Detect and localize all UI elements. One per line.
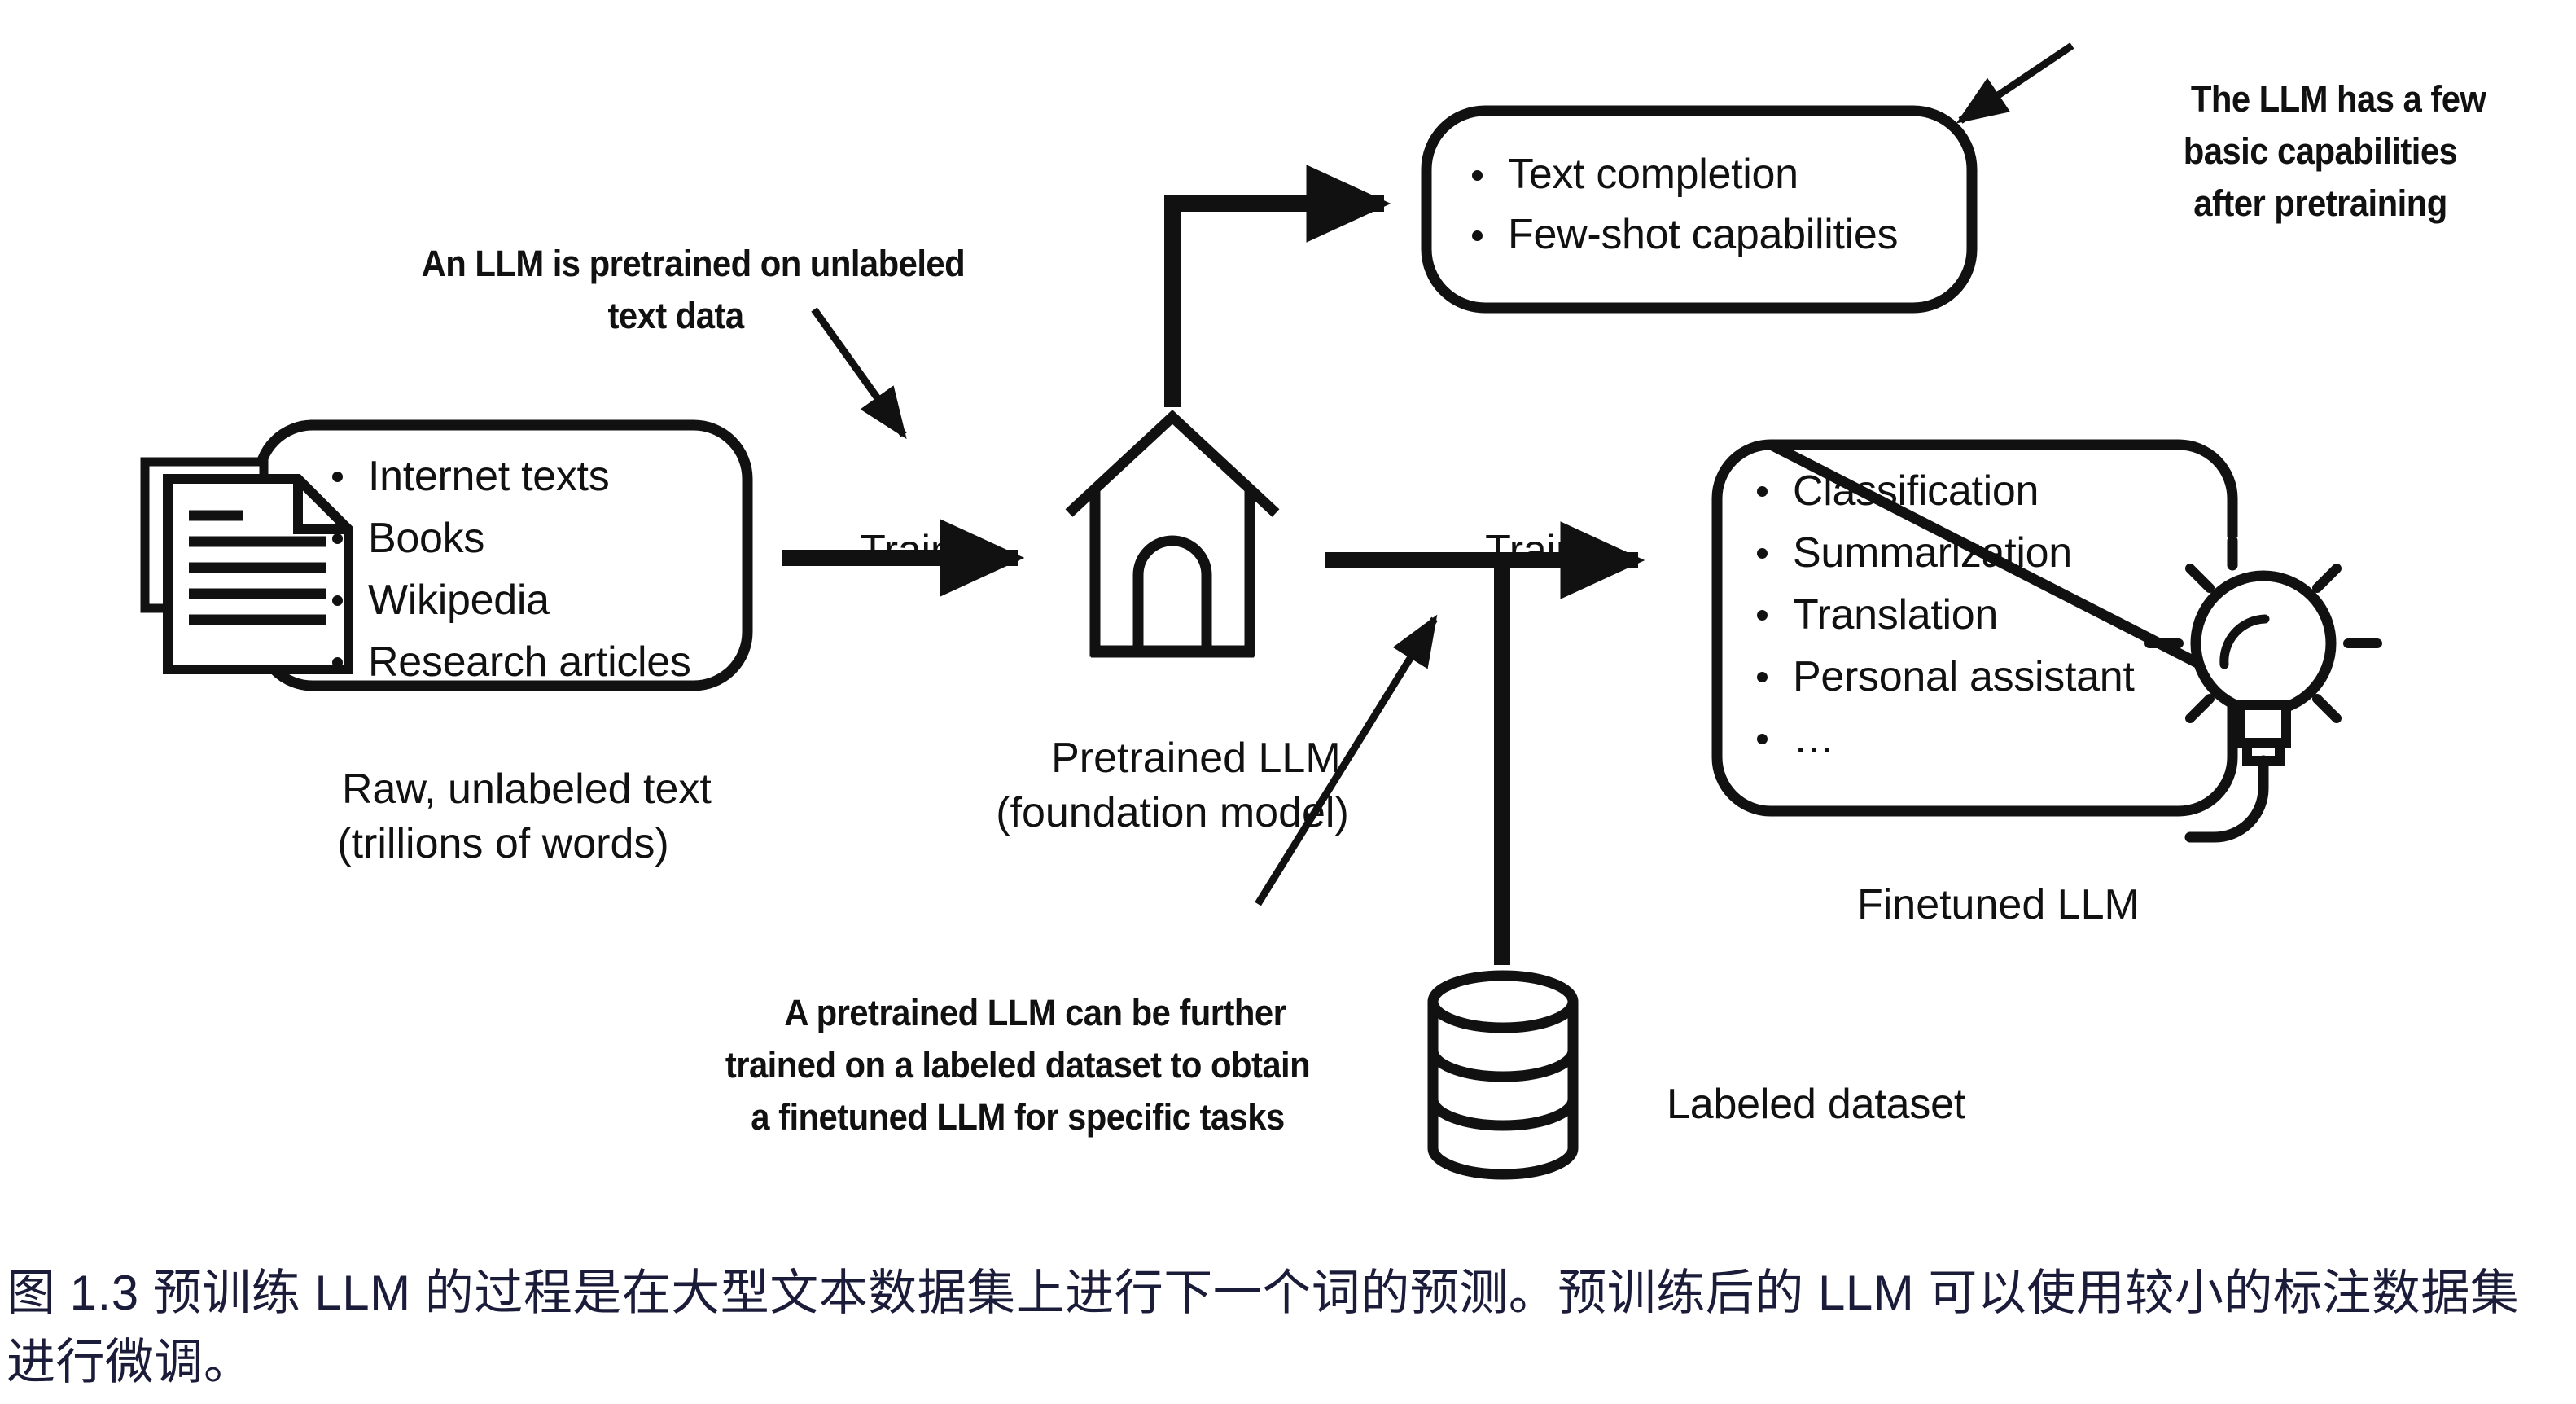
list-item: Wikipedia xyxy=(318,570,757,632)
raw-text-items: Internet texts Books Wikipedia Research … xyxy=(318,446,757,694)
figure-llm-pipeline: An LLM is pretrained on unlabeled text d… xyxy=(0,0,2576,1404)
list-item: Personal assistant xyxy=(1742,647,2198,709)
figure-caption: 图 1.3 预训练 LLM 的过程是在大型文本数据集上进行下一个词的预测。预训练… xyxy=(7,1258,2547,1397)
annotation-finetune-note: A pretrained LLM can be further trained … xyxy=(677,935,1359,1195)
finetuned-llm-caption: Finetuned LLM xyxy=(1717,823,2232,988)
labeled-dataset-caption: Labeled dataset xyxy=(1620,1024,1965,1185)
pretrained-llm-caption: Pretrained LLM (foundation model) xyxy=(928,676,1417,896)
list-item: Translation xyxy=(1742,585,2198,647)
house-icon xyxy=(1069,417,1276,652)
list-item: Research articles xyxy=(318,632,757,694)
list-item: Few-shot capabilities xyxy=(1457,205,1962,265)
finetuned-llm-items: Classification Summarization Translation… xyxy=(1742,461,2198,770)
train-label-2: Train xyxy=(1439,471,1579,631)
annotation-pretrain-note: An LLM is pretrained on unlabeled text d… xyxy=(380,186,970,394)
list-item: Text completion xyxy=(1457,145,1962,205)
train-label-1: Train xyxy=(814,471,954,631)
list-item: … xyxy=(1742,709,2198,770)
raw-text-caption: Raw, unlabeled text (trillions of words) xyxy=(259,707,747,927)
capabilities-note-pointer xyxy=(1960,46,2072,121)
list-item: Summarization xyxy=(1742,523,2198,585)
database-icon xyxy=(1433,976,1573,1174)
list-item: Internet texts xyxy=(318,446,757,508)
annotation-capabilities-note: The LLM has a few basic capabilities aft… xyxy=(2109,21,2533,281)
list-item: Books xyxy=(318,508,757,570)
base-capabilities-items: Text completion Few-shot capabilities xyxy=(1457,145,1962,265)
elbow-arrow-to-capabilities xyxy=(1172,204,1384,407)
list-item: Classification xyxy=(1742,461,2198,523)
